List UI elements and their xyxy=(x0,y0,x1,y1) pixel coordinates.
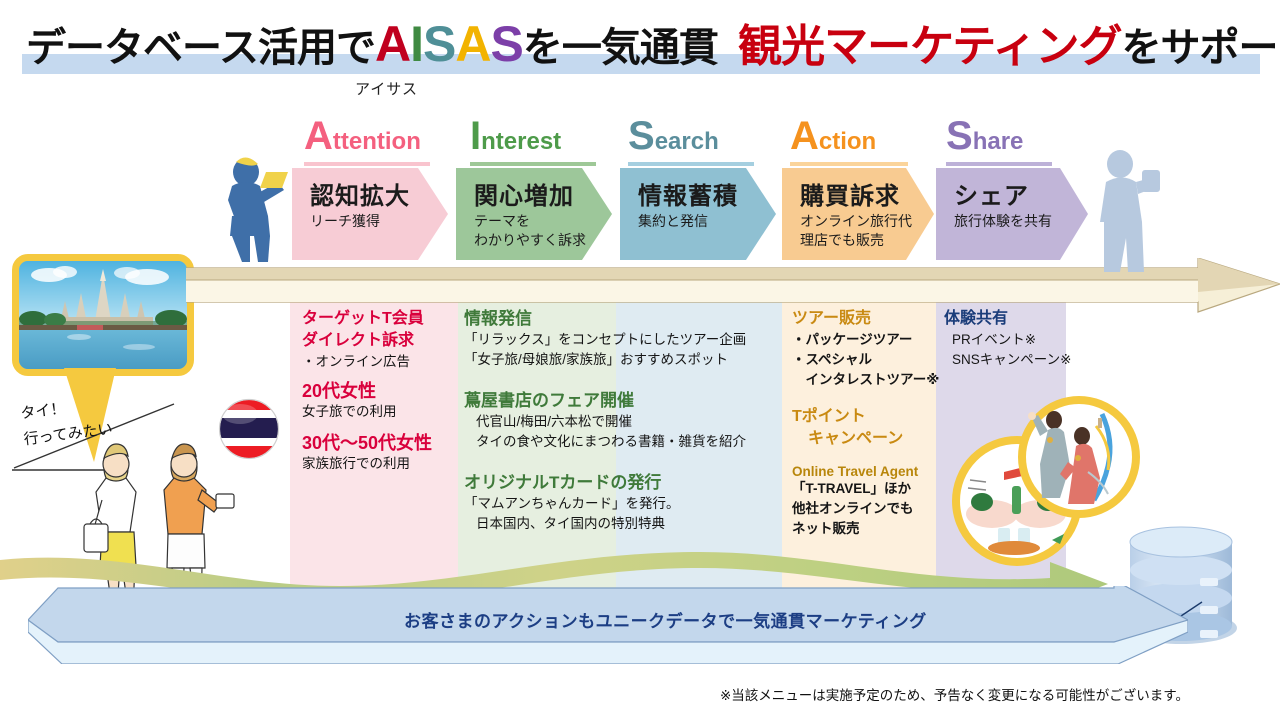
stage-header-search: Search xyxy=(628,116,758,164)
stage-rest-interest: nterest xyxy=(481,128,561,155)
action-heading-1: ツアー販売 xyxy=(792,308,942,330)
standing-person-illustration xyxy=(1078,146,1168,276)
action-line-5: 「T-TRAVEL」ほか xyxy=(792,479,942,499)
stage-cap-s2: S xyxy=(946,114,973,158)
stage-rest-attention: ttention xyxy=(333,128,421,155)
stage-jp-search: 情報蓄積 xyxy=(638,176,738,211)
share-heading-1: 体験共有 xyxy=(944,308,1074,330)
title-tail: をサポート！ xyxy=(1122,20,1280,76)
stage-header-action: Action xyxy=(790,116,920,164)
stage-underline-attention xyxy=(304,162,430,166)
thailand-temple-photo xyxy=(12,254,194,376)
stage-jp-share: シェア xyxy=(954,176,1029,211)
action-line-1: ・パッケージツアー xyxy=(792,330,942,350)
column-attention: ターゲットT会員 ダイレクト訴求 ・オンライン広告 20代女性 女子旅での利用 … xyxy=(302,308,462,488)
title-letter-a1: A xyxy=(375,16,410,72)
action-heading-3: Online Travel Agent xyxy=(792,464,942,479)
title-letter-s2: S xyxy=(490,16,522,72)
share-line-2: SNSキャンペーン※ xyxy=(944,350,1074,370)
action-line-3: インタレストツアー※ xyxy=(792,370,942,390)
interest-heading-3: オリジナルTカードの発行 xyxy=(464,472,774,494)
interest-line-1: 「リラックス」をコンセプトにしたツアー企画 xyxy=(464,330,774,350)
stage-jp-attention: 認知拡大 xyxy=(310,176,410,211)
attention-block-1: ターゲットT会員 ダイレクト訴求 ・オンライン広告 xyxy=(302,308,462,372)
stage-chevron-interest[interactable]: 関心増加 テーマをわかりやすく訴求 xyxy=(456,168,612,260)
stage-sub-share: 旅行体験を共有 xyxy=(954,212,1052,231)
stage-chevron-attention[interactable]: 認知拡大 リーチ獲得 xyxy=(292,168,448,260)
stage-underline-search xyxy=(628,162,754,166)
attention-heading-3: 20代女性 xyxy=(302,380,462,402)
stage-cap-a: A xyxy=(304,114,333,158)
bottom-banner-text: お客さまのアクションもユニークデータで一気通貫マーケティング xyxy=(404,607,927,632)
stage-cap-s1: S xyxy=(628,114,655,158)
action-line-2: ・スペシャル xyxy=(792,350,942,370)
stage-header-attention: Attention xyxy=(304,116,444,164)
stage-rest-search: earch xyxy=(655,128,719,155)
share-block-1: 体験共有 PRイベント※ SNSキャンペーン※ xyxy=(944,308,1074,370)
title-ruby: アイサス xyxy=(355,78,418,99)
stage-cap-i: I xyxy=(470,114,481,158)
interest-heading-1: 情報発信 xyxy=(464,308,774,330)
stage-sub-search: 集約と発信 xyxy=(638,212,708,231)
action-line-4: キャンペーン xyxy=(792,428,942,450)
stage-jp-action: 購買訴求 xyxy=(800,176,900,211)
stage-underline-interest xyxy=(470,162,596,166)
thai-dancers-circle-illustration xyxy=(1018,396,1140,518)
attention-heading-4: 30代～50代女性 xyxy=(302,432,462,454)
attention-line-2: 女子旅での利用 xyxy=(302,402,462,422)
attention-heading-2: ダイレクト訴求 xyxy=(302,330,462,352)
stage-jp-interest: 関心増加 xyxy=(474,176,574,211)
title-letter-a2: A xyxy=(455,16,490,72)
interest-block-3: オリジナルTカードの発行 「マムアンちゃんカード」を発行。 日本国内、タイ国内の… xyxy=(464,472,774,534)
interest-block-1: 情報発信 「リラックス」をコンセプトにしたツアー企画 「女子旅/母娘旅/家族旅」… xyxy=(464,308,774,370)
title-mid: を一気通貫 xyxy=(523,20,718,76)
stage-underline-share xyxy=(946,162,1052,166)
diagram-canvas: データベース活用でAISASを一気通貫 観光マーケティングをサポート！ アイサス xyxy=(0,0,1280,720)
attention-heading-1: ターゲットT会員 xyxy=(302,308,462,330)
stage-underline-action xyxy=(790,162,908,166)
stage-rest-action: ction xyxy=(819,128,876,155)
stage-sub-action: オンライン旅行代理店でも販売 xyxy=(800,212,912,250)
title-letter-i: I xyxy=(410,16,423,72)
attention-block-3: 30代～50代女性 家族旅行での利用 xyxy=(302,432,462,474)
title-lead: データベース活用で xyxy=(26,20,375,76)
seated-person-illustration xyxy=(206,152,296,272)
footnote-text: ※当該メニューは実施予定のため、予告なく変更になる可能性がございます。 xyxy=(720,684,1189,704)
interest-line-5: 「マムアンちゃんカード」を発行。 xyxy=(464,494,774,514)
stage-cap-a2: A xyxy=(790,114,819,158)
stage-chevron-share[interactable]: シェア 旅行体験を共有 xyxy=(936,168,1088,260)
attention-block-2: 20代女性 女子旅での利用 xyxy=(302,380,462,422)
stage-header-share: Share xyxy=(946,116,1076,164)
interest-heading-2: 蔦屋書店のフェア開催 xyxy=(464,390,774,412)
interest-line-2: 「女子旅/母娘旅/家族旅」おすすめスポット xyxy=(464,350,774,370)
action-block-2: Tポイント キャンペーン xyxy=(792,406,942,450)
thailand-flag-icon xyxy=(218,398,280,460)
attention-line-1: ・オンライン広告 xyxy=(302,352,462,372)
attention-line-3: 家族旅行での利用 xyxy=(302,454,462,474)
page-title: データベース活用でAISASを一気通貫 観光マーケティングをサポート！ xyxy=(26,16,1266,72)
action-heading-2: Tポイント xyxy=(792,406,942,428)
action-block-1: ツアー販売 ・パッケージツアー ・スペシャル インタレストツアー※ xyxy=(792,308,942,390)
stage-sub-attention: リーチ獲得 xyxy=(310,212,380,231)
action-line-6: 他社オンラインでも xyxy=(792,499,942,519)
interest-line-6: 日本国内、タイ国内の特別特典 xyxy=(464,514,774,534)
column-action: ツアー販売 ・パッケージツアー ・スペシャル インタレストツアー※ Tポイント … xyxy=(792,308,942,553)
action-block-3: Online Travel Agent 「T-TRAVEL」ほか 他社オンライン… xyxy=(792,464,942,539)
interest-block-2: 蔦屋書店のフェア開催 代官山/梅田/六本松で開催 タイの食や文化にまつわる書籍・… xyxy=(464,390,774,452)
interest-line-3: 代官山/梅田/六本松で開催 xyxy=(464,412,774,432)
stage-chevron-search[interactable]: 情報蓄積 集約と発信 xyxy=(620,168,776,260)
column-interest: 情報発信 「リラックス」をコンセプトにしたツアー企画 「女子旅/母娘旅/家族旅」… xyxy=(464,308,774,548)
stage-sub-interest: テーマをわかりやすく訴求 xyxy=(474,212,586,250)
share-line-1: PRイベント※ xyxy=(944,330,1074,350)
column-share: 体験共有 PRイベント※ SNSキャンペーン※ xyxy=(944,308,1074,384)
title-letter-s1: S xyxy=(423,16,455,72)
stage-rest-share: hare xyxy=(973,128,1024,155)
title-highlight: 観光マーケティング xyxy=(738,19,1121,75)
interest-line-4: タイの食や文化にまつわる書籍・雑貨を紹介 xyxy=(464,432,774,452)
stage-header-interest: Interest xyxy=(470,116,600,164)
stage-chevron-action[interactable]: 購買訴求 オンライン旅行代理店でも販売 xyxy=(782,168,934,260)
action-line-7: ネット販売 xyxy=(792,519,942,539)
